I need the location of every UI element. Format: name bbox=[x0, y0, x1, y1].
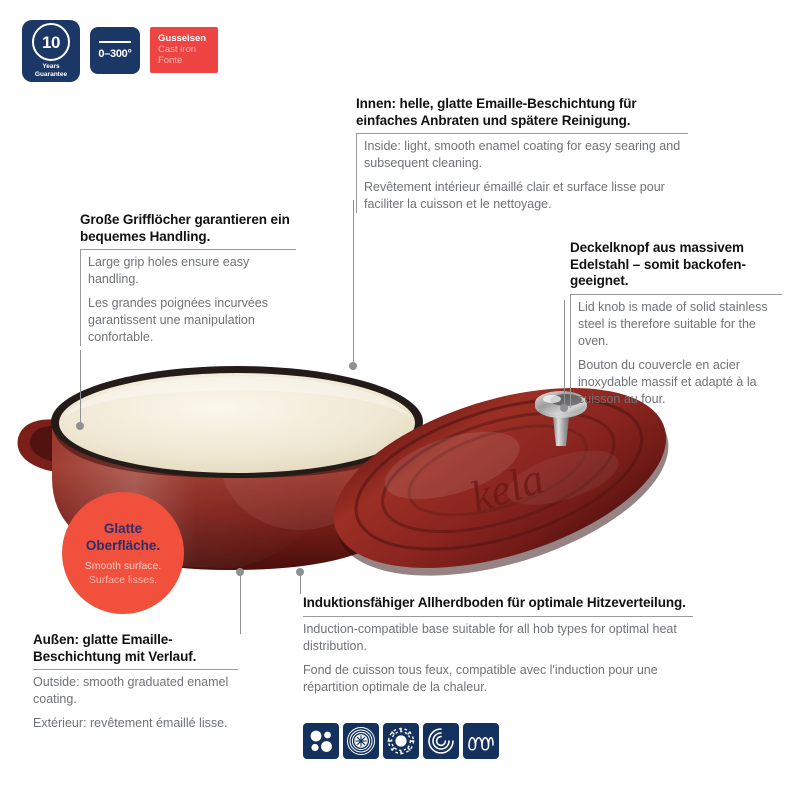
callout-outer-coating-title: Außen: glatte Emaille-Beschichtung mit V… bbox=[33, 632, 238, 669]
smooth-surface-title-line2: Oberfläche. bbox=[86, 537, 160, 554]
callout-grip-holes-fr: Les grandes poignées incurvées garantiss… bbox=[88, 295, 296, 346]
callout-induction-base-title: Induktionsfähiger Allherdboden für optim… bbox=[303, 595, 693, 616]
material-badge: Gusseisen Cast iron Fonte bbox=[150, 27, 218, 73]
gas-hob-icon bbox=[303, 723, 339, 759]
product-infographic: 10 Years Guarantee 0–300° Gusseisen Cast… bbox=[0, 0, 800, 800]
temperature-divider-line bbox=[99, 41, 131, 43]
leader-line-inner-coating bbox=[353, 200, 354, 366]
leader-dot-lid-knob bbox=[560, 404, 568, 412]
material-label-en: Cast iron bbox=[158, 44, 210, 55]
guarantee-years-number: 10 bbox=[32, 23, 70, 61]
temperature-range-label: 0–300° bbox=[98, 48, 131, 60]
leader-dot-induction-base bbox=[296, 568, 304, 576]
smooth-surface-title-line1: Glatte bbox=[86, 520, 160, 537]
leader-dot-inner-coating bbox=[349, 362, 357, 370]
callout-induction-base-en: Induction-compatible base suitable for a… bbox=[303, 621, 693, 655]
guarantee-years-label: Years bbox=[35, 63, 67, 71]
leader-dot-grip-holes bbox=[76, 422, 84, 430]
callout-outer-coating-fr: Extérieur: revêtement émaillé lisse. bbox=[33, 715, 238, 732]
smooth-surface-badge: Glatte Oberfläche. Smooth surface. Surfa… bbox=[62, 492, 184, 614]
hob-compatibility-icon-row bbox=[303, 723, 499, 759]
callout-outer-coating: Außen: glatte Emaille-Beschichtung mit V… bbox=[33, 632, 238, 732]
callout-lid-knob-fr: Bouton du couvercle en acier inoxydable … bbox=[578, 357, 782, 408]
leader-line-grip-holes bbox=[80, 350, 81, 426]
guarantee-word-label: Guarantee bbox=[35, 71, 67, 79]
material-label-fr: Fonte bbox=[158, 55, 210, 66]
temperature-badge: 0–300° bbox=[90, 27, 140, 74]
smooth-surface-en: Smooth surface. bbox=[85, 559, 161, 573]
ceramic-hob-icon bbox=[423, 723, 459, 759]
material-label-de: Gusseisen bbox=[158, 33, 210, 44]
callout-grip-holes-en: Large grip holes ensure easy handling. bbox=[88, 254, 296, 288]
callout-outer-coating-en: Outside: smooth graduated enamel coating… bbox=[33, 674, 238, 708]
electric-hob-icon bbox=[343, 723, 379, 759]
callout-grip-holes-title: Große Grifflöcher garantieren ein bequem… bbox=[80, 212, 296, 249]
halogen-hob-icon bbox=[383, 723, 419, 759]
callout-induction-base-fr: Fond de cuisson tous feux, compatible av… bbox=[303, 662, 693, 696]
callout-lid-knob-title: Deckelknopf aus massivem Edelstahl – som… bbox=[570, 240, 782, 294]
leader-line-lid-knob bbox=[564, 300, 565, 408]
callout-inner-coating: Innen: helle, glatte Emaille-Beschichtun… bbox=[356, 96, 688, 213]
callout-inner-coating-title: Innen: helle, glatte Emaille-Beschichtun… bbox=[356, 96, 688, 133]
callout-induction-base: Induktionsfähiger Allherdboden für optim… bbox=[303, 595, 693, 696]
callout-lid-knob-en: Lid knob is made of solid stainless stee… bbox=[578, 299, 782, 350]
callout-inner-coating-fr: Revêtement intérieur émaillé clair et su… bbox=[364, 179, 688, 213]
leader-line-outer-coating bbox=[240, 572, 241, 634]
smooth-surface-fr: Surface lisses. bbox=[89, 573, 157, 587]
callout-lid-knob: Deckelknopf aus massivem Edelstahl – som… bbox=[570, 240, 782, 408]
guarantee-badge: 10 Years Guarantee bbox=[22, 20, 80, 82]
leader-dot-outer-coating bbox=[236, 568, 244, 576]
callout-inner-coating-en: Inside: light, smooth enamel coating for… bbox=[364, 138, 688, 172]
badge-row: 10 Years Guarantee 0–300° Gusseisen Cast… bbox=[22, 20, 218, 82]
induction-hob-icon bbox=[463, 723, 499, 759]
callout-grip-holes: Große Grifflöcher garantieren ein bequem… bbox=[80, 212, 296, 346]
